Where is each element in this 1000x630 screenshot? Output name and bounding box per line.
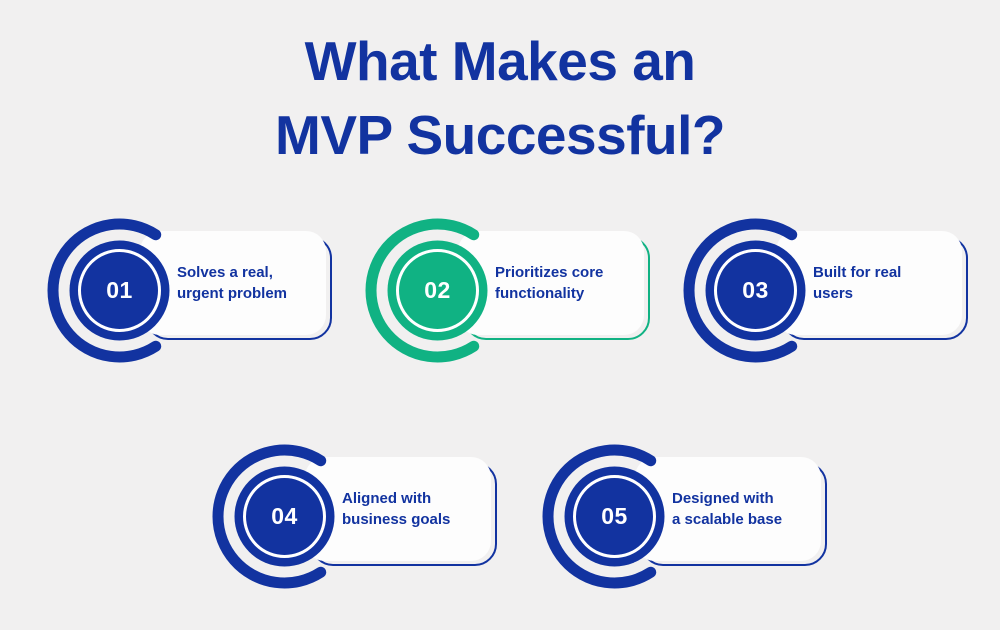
feature-card[interactable]: Built for realusers03 (683, 218, 966, 363)
card-text: Designed witha scalable base (672, 457, 814, 561)
card-number-badge: 05 (542, 444, 687, 589)
page-title-line-1: What Makes an (0, 24, 1000, 98)
card-row-top: Solves a real,urgent problem01Prioritize… (0, 218, 1000, 363)
card-text: Solves a real,urgent problem (177, 231, 319, 335)
card-number-badge: 01 (47, 218, 192, 363)
card-text: Built for realusers (813, 231, 955, 335)
feature-card[interactable]: Designed witha scalable base05 (542, 444, 825, 589)
card-text-line-2: business goals (342, 511, 450, 528)
feature-card[interactable]: Prioritizes corefunctionality02 (365, 218, 648, 363)
card-number-badge: 02 (365, 218, 510, 363)
card-number-badge: 03 (683, 218, 828, 363)
page-title: What Makes an MVP Successful? (0, 24, 1000, 172)
card-text-line-2: a scalable base (672, 511, 782, 528)
badge-number: 05 (542, 444, 687, 589)
badge-number: 02 (365, 218, 510, 363)
card-number-badge: 04 (212, 444, 357, 589)
card-row-bottom: Aligned withbusiness goals04Designed wit… (0, 444, 1000, 589)
page-title-line-2: MVP Successful? (0, 98, 1000, 172)
card-text-line-1: Prioritizes core (495, 264, 603, 281)
card-text-line-1: Designed with (672, 490, 774, 507)
badge-number: 01 (47, 218, 192, 363)
badge-number: 03 (683, 218, 828, 363)
feature-card[interactable]: Solves a real,urgent problem01 (47, 218, 330, 363)
card-text: Aligned withbusiness goals (342, 457, 484, 561)
feature-card[interactable]: Aligned withbusiness goals04 (212, 444, 495, 589)
card-text: Prioritizes corefunctionality (495, 231, 637, 335)
card-text-line-2: urgent problem (177, 285, 287, 302)
badge-number: 04 (212, 444, 357, 589)
